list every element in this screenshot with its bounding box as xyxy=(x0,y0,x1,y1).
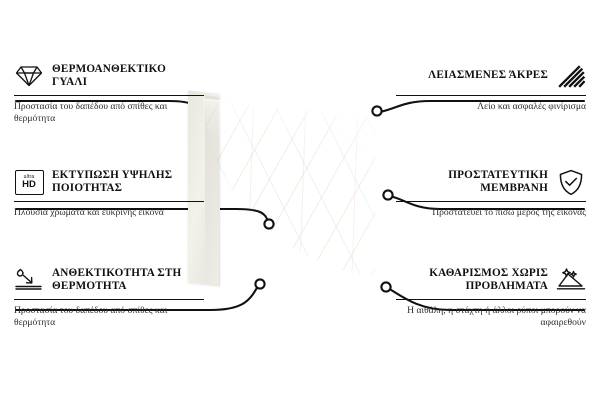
infographic-canvas: ΘΕΡΜΟΑΝΘΕΚΤΙΚΟ ΓΥΑΛΙ Προστασία του δαπέδ… xyxy=(0,0,600,400)
product-image xyxy=(178,98,408,310)
feature-description: Λείο και ασφαλές φινίρισμα xyxy=(396,101,586,113)
glass-panel xyxy=(178,96,376,312)
divider xyxy=(14,299,204,300)
feature-title: ΚΑΘΑΡΙΣΜΟΣ ΧΩΡΙΣ ΠΡΟΒΛΗΜΑΤΑ xyxy=(396,267,548,294)
feature-title: ΠΡΟΣΤΑΤΕΥΤΙΚΗ ΜΕΜΒΡΑΝΗ xyxy=(396,169,548,196)
shield-check-icon xyxy=(556,168,586,196)
feature-description: Προστατεύει το πίσω μέρος της εικόνας xyxy=(396,207,586,219)
divider xyxy=(396,95,586,96)
feature-description: Προστασία του δαπέδου από σπίθες και θερ… xyxy=(14,305,204,328)
sparkle-clean-icon xyxy=(556,266,586,294)
feature-heat-resistant-glass[interactable]: ΘΕΡΜΟΑΝΘΕΚΤΙΚΟ ΓΥΑΛΙ Προστασία του δαπέδ… xyxy=(14,62,204,125)
ultra-hd-icon: ultra HD xyxy=(14,168,44,196)
feature-description: Πλούσια χρώματα και ευκρινής εικόνα xyxy=(14,207,204,219)
feature-high-quality-print[interactable]: ultra HD ΕΚΤΥΠΩΣΗ ΥΨΗΛΗΣ ΠΟΙΟΤΗΤΑΣ Πλούσ… xyxy=(14,168,204,219)
glass-edge xyxy=(178,96,376,312)
divider xyxy=(14,201,204,202)
hatched-edges-icon xyxy=(556,62,586,90)
feature-title: ΕΚΤΥΠΩΣΗ ΥΨΗΛΗΣ ΠΟΙΟΤΗΤΑΣ xyxy=(52,169,204,196)
flame-deflect-icon xyxy=(14,266,44,294)
feature-title: ΘΕΡΜΟΑΝΘΕΚΤΙΚΟ ΓΥΑΛΙ xyxy=(52,63,204,90)
feature-title: ΑΝΘΕΚΤΙΚΟΤΗΤΑ ΣΤΗ ΘΕΡΜΟΤΗΤΑ xyxy=(52,267,204,294)
feature-description: Η αιθάλη, η στάχτη ή άλλοι ρύποι μπορούν… xyxy=(396,305,586,328)
feature-heat-durability[interactable]: ΑΝΘΕΚΤΙΚΟΤΗΤΑ ΣΤΗ ΘΕΡΜΟΤΗΤΑ Προστασία το… xyxy=(14,266,204,329)
feature-protective-membrane[interactable]: ΠΡΟΣΤΑΤΕΥΤΙΚΗ ΜΕΜΒΡΑΝΗ Προστατεύει το πί… xyxy=(396,168,586,219)
feature-easy-cleaning[interactable]: ΚΑΘΑΡΙΣΜΟΣ ΧΩΡΙΣ ΠΡΟΒΛΗΜΑΤΑ Η αιθάλη, η … xyxy=(396,266,586,329)
divider xyxy=(396,201,586,202)
diamond-icon xyxy=(14,62,44,90)
badge-hd-label: HD xyxy=(22,180,36,190)
feature-title: ΛΕΙΑΣΜΕΝΕΣ ΆΚΡΕΣ xyxy=(428,69,548,83)
feature-smoothed-edges[interactable]: ΛΕΙΑΣΜΕΝΕΣ ΆΚΡΕΣ Λείο και ασφαλές φινίρι… xyxy=(396,62,586,113)
divider xyxy=(396,299,586,300)
feature-description: Προστασία του δαπέδου από σπίθες και θερ… xyxy=(14,101,204,124)
divider xyxy=(14,95,204,96)
